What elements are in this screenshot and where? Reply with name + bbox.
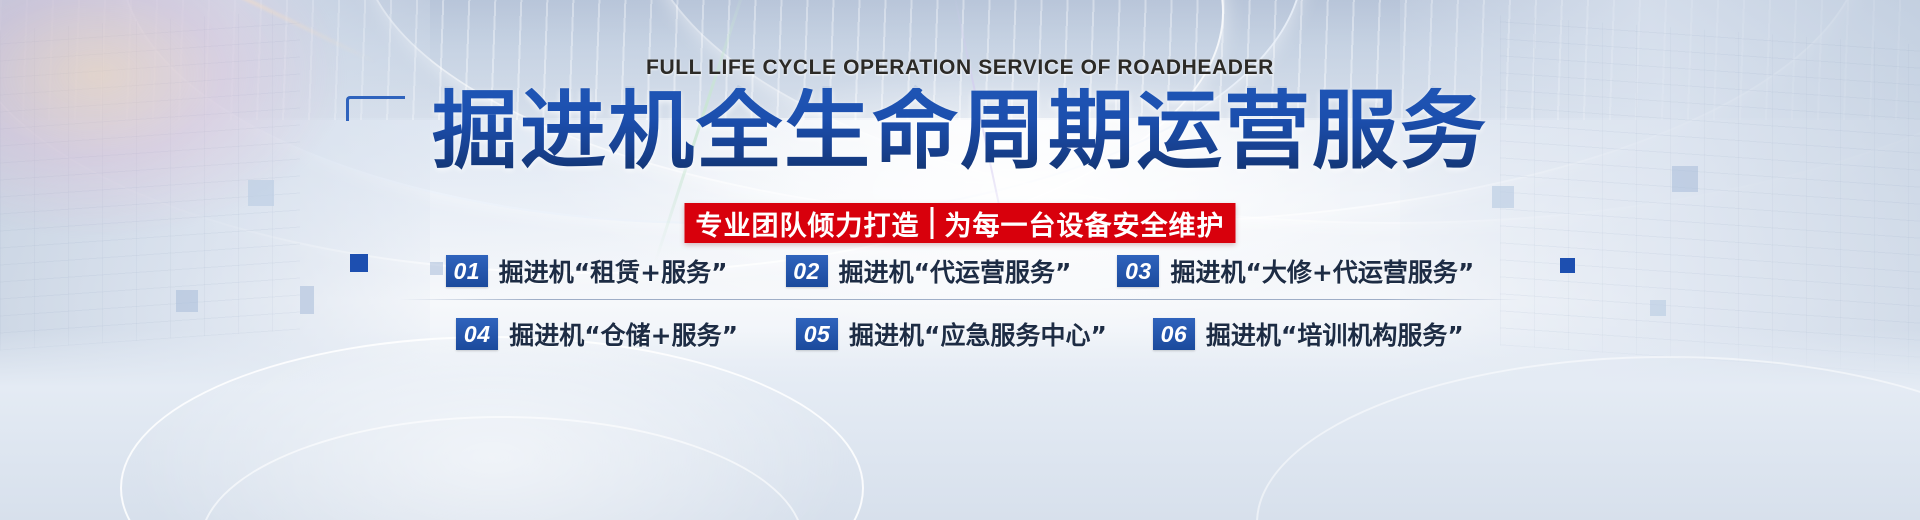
service-item-01[interactable]: 01 掘进机“租赁+服务” xyxy=(446,253,728,289)
service-number-06: 06 xyxy=(1153,318,1195,350)
service-label-02: 掘进机“代运营服务” xyxy=(839,253,1072,289)
service-number-05: 05 xyxy=(796,318,838,350)
services-divider xyxy=(400,299,1520,300)
service-number-02: 02 xyxy=(786,255,828,287)
services-list: 01 掘进机“租赁+服务” 02 掘进机“代运营服务” 03 掘进机“大修+代运… xyxy=(0,243,1920,362)
service-number-01: 01 xyxy=(446,255,488,287)
service-label-03: 掘进机“大修+代运营服务” xyxy=(1170,253,1474,289)
service-number-04: 04 xyxy=(456,318,498,350)
banner-content: FULL LIFE CYCLE OPERATION SERVICE OF ROA… xyxy=(0,0,1920,520)
service-number-03: 03 xyxy=(1117,255,1159,287)
service-item-03[interactable]: 03 掘进机“大修+代运营服务” xyxy=(1117,253,1474,289)
services-row-2: 04 掘进机“仓储+服务” 05 掘进机“应急服务中心” 06 掘进机“培训机构… xyxy=(0,306,1920,362)
red-badge: 专业团队倾力打造 为每一台设备安全维护 xyxy=(685,203,1236,243)
red-badge-left-text: 专业团队倾力打造 xyxy=(685,203,931,243)
service-item-02[interactable]: 02 掘进机“代运营服务” xyxy=(786,253,1072,289)
english-subtitle: FULL LIFE CYCLE OPERATION SERVICE OF ROA… xyxy=(0,56,1920,80)
promotional-banner: FULL LIFE CYCLE OPERATION SERVICE OF ROA… xyxy=(0,0,1920,520)
service-label-05: 掘进机“应急服务中心” xyxy=(849,316,1107,352)
service-label-06: 掘进机“培训机构服务” xyxy=(1206,316,1464,352)
red-badge-right-text: 为每一台设备安全维护 xyxy=(934,203,1236,243)
main-headline: 掘进机全生命周期运营服务 xyxy=(0,88,1920,174)
service-label-01: 掘进机“租赁+服务” xyxy=(499,253,728,289)
service-item-06[interactable]: 06 掘进机“培训机构服务” xyxy=(1153,316,1464,352)
service-label-04: 掘进机“仓储+服务” xyxy=(509,316,738,352)
service-item-05[interactable]: 05 掘进机“应急服务中心” xyxy=(796,316,1107,352)
services-row-1: 01 掘进机“租赁+服务” 02 掘进机“代运营服务” 03 掘进机“大修+代运… xyxy=(0,243,1920,299)
service-item-04[interactable]: 04 掘进机“仓储+服务” xyxy=(456,316,738,352)
